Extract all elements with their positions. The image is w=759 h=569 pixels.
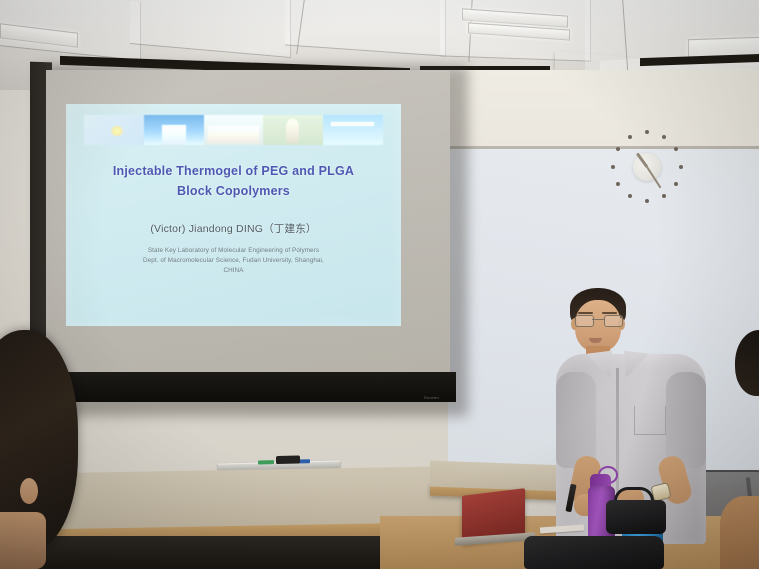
slide-title-line-1: Injectable Thermogel of PEG and PLGA <box>79 161 387 182</box>
audience-neck <box>0 512 46 569</box>
black-bag-upper[interactable] <box>606 500 666 534</box>
presenter-brow-right <box>602 312 617 314</box>
clock-marker-4 <box>674 182 678 186</box>
clock-marker-9 <box>611 165 615 169</box>
clock-marker-10 <box>616 147 620 151</box>
screen-brand-logo: Screen <box>424 395 439 400</box>
glasses-bridge <box>592 319 604 320</box>
slide-title-line-2: Block Copolymers <box>79 181 387 202</box>
banner-panel-statue <box>263 115 323 145</box>
eyeglasses-icon <box>575 315 621 325</box>
slide-author: (Victor) Jiandong DING（丁建东） <box>79 221 387 236</box>
clock-marker-11 <box>628 135 632 139</box>
whiteboard-top-rail <box>446 146 759 149</box>
slide-title: Injectable Thermogel of PEG and PLGA Blo… <box>79 161 387 202</box>
slide-surface: Injectable Thermogel of PEG and PLGA Blo… <box>66 104 401 326</box>
glasses-lens-left <box>575 315 594 327</box>
marker-green[interactable] <box>258 460 274 464</box>
slide-affiliation: State Key Laboratory of Molecular Engine… <box>79 246 387 277</box>
presenter-brow-left <box>578 312 593 314</box>
shirt-pocket <box>634 406 666 435</box>
affiliation-line-2: Dept. of Macromolecular Science, Fudan U… <box>79 256 387 266</box>
affiliation-line-3: CHINA <box>79 266 387 276</box>
clock-marker-12 <box>645 130 649 134</box>
black-bag[interactable] <box>524 536 664 569</box>
clock-marker-7 <box>628 194 632 198</box>
clock-marker-8 <box>616 182 620 186</box>
clock-marker-5 <box>662 194 666 198</box>
audience-ear <box>20 478 38 504</box>
banner-panel-tower <box>144 115 204 145</box>
clock-marker-3 <box>679 165 683 169</box>
clock-marker-1 <box>662 135 666 139</box>
whiteboard-eraser[interactable] <box>276 455 300 464</box>
clock-marker-6 <box>645 199 649 203</box>
slide-banner-strip <box>84 115 382 145</box>
affiliation-line-1: State Key Laboratory of Molecular Engine… <box>79 246 387 256</box>
audience-shoulder-right-edge <box>720 496 759 569</box>
glasses-lens-right <box>604 315 623 327</box>
presentation-room-photo: Screen Injectable Thermogel of PEG and P… <box>0 0 759 569</box>
wall-clock <box>608 128 686 206</box>
shirt-sleeve-right <box>666 372 706 468</box>
banner-panel-building <box>204 115 264 145</box>
clock-marker-2 <box>674 147 678 151</box>
banner-panel-emblem <box>84 115 144 145</box>
banner-panel-gate <box>323 115 383 145</box>
screen-bottom-bar <box>44 372 456 402</box>
shirt-sleeve-left <box>556 372 596 468</box>
